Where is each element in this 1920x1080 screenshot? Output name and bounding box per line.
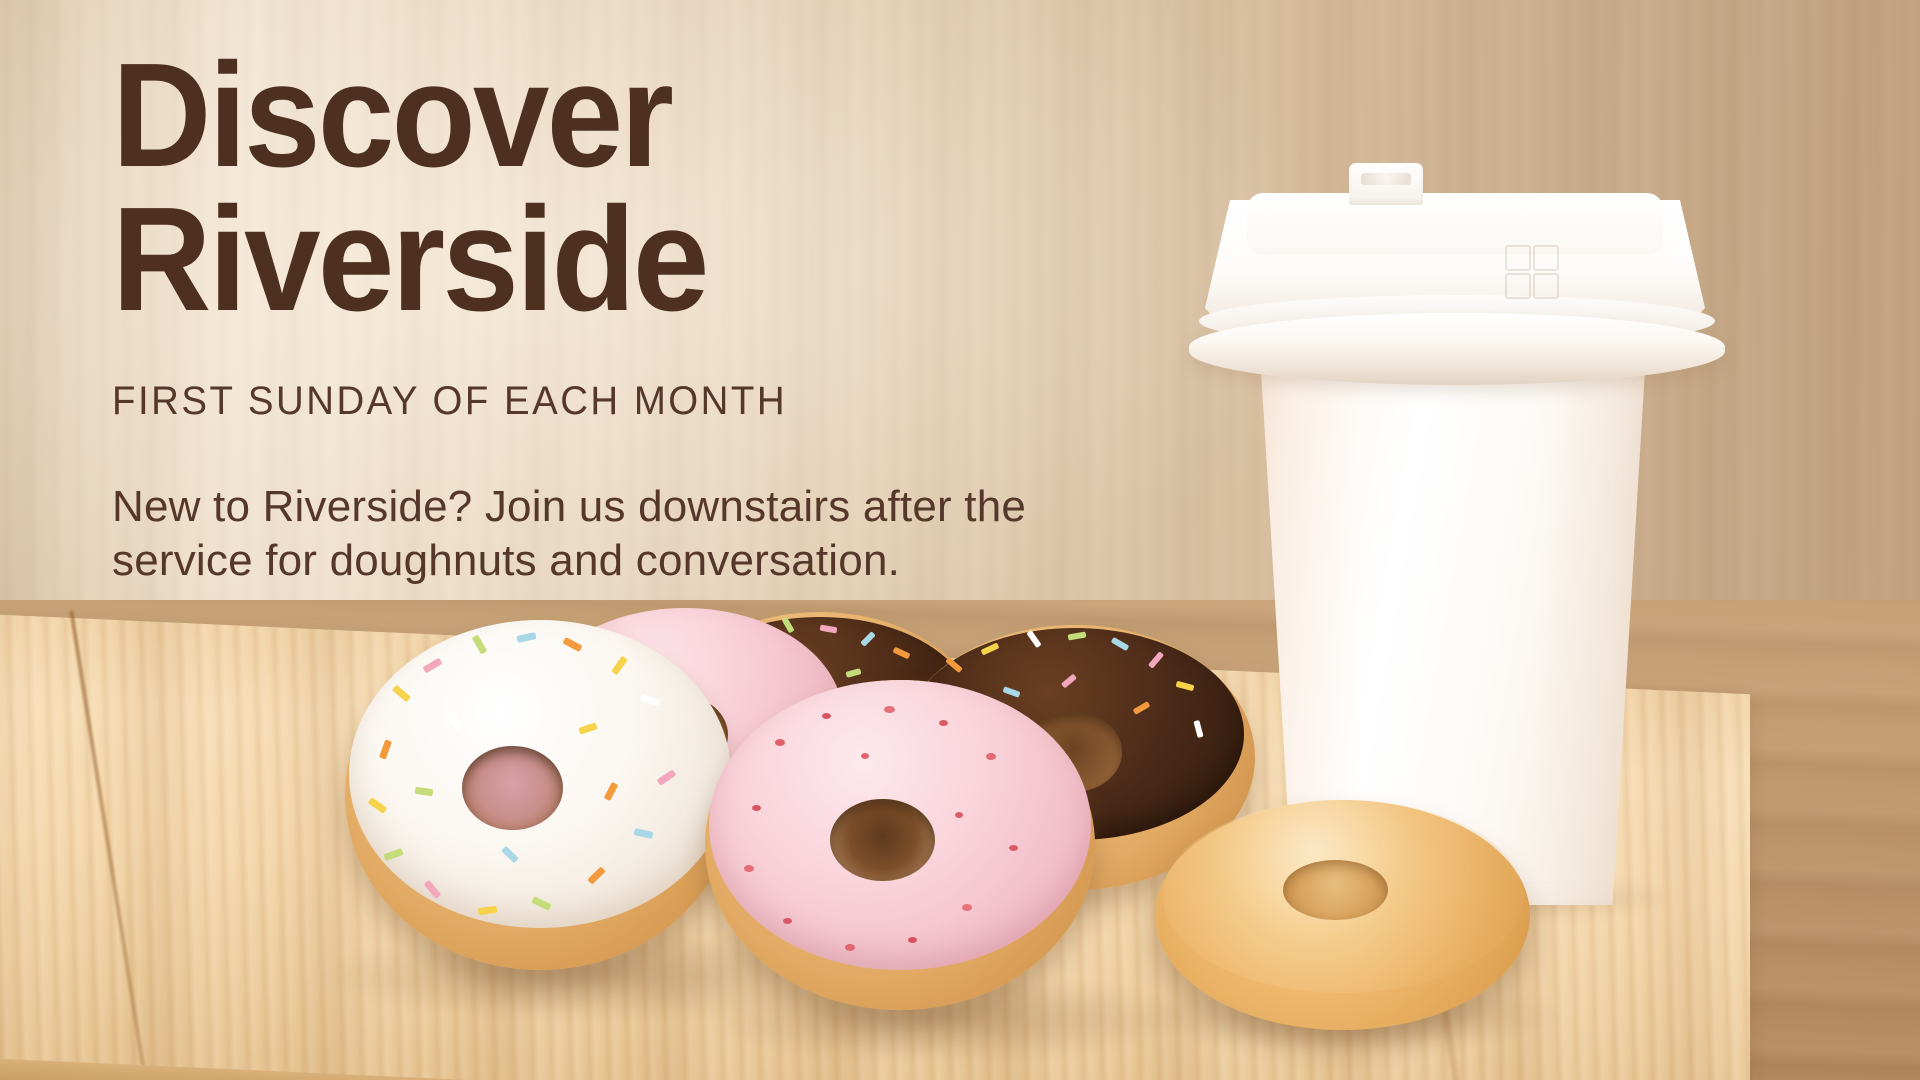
doughnut-hole [830,799,935,882]
promo-banner: Discover Riverside FIRST SUNDAY OF EACH … [0,0,1920,1080]
cup-lid-outer-rim [1189,313,1725,385]
cup-lid-top-face [1247,193,1663,255]
doughnut-glazed-sugar [1155,800,1530,1030]
doughnut-strawberry-front [705,680,1095,1010]
headline-line-1: Discover [112,33,671,198]
cup-lid-embossed-mark [1505,245,1567,301]
banner-copy: Discover Riverside FIRST SUNDAY OF EACH … [112,44,1212,587]
kicker-text: FIRST SUNDAY OF EACH MONTH [112,379,1168,424]
doughnut-hole [1283,860,1388,920]
page-title: Discover Riverside [112,44,1135,331]
body-text: New to Riverside? Join us downstairs aft… [112,480,1172,587]
headline-line-2: Riverside [112,177,707,342]
coffee-cup [1205,105,1790,905]
doughnut-hole [462,746,563,830]
cup-sip-tab-icon [1349,163,1423,205]
cup-sip-slot [1361,173,1411,185]
doughnut-white-sprinkles [345,620,735,970]
